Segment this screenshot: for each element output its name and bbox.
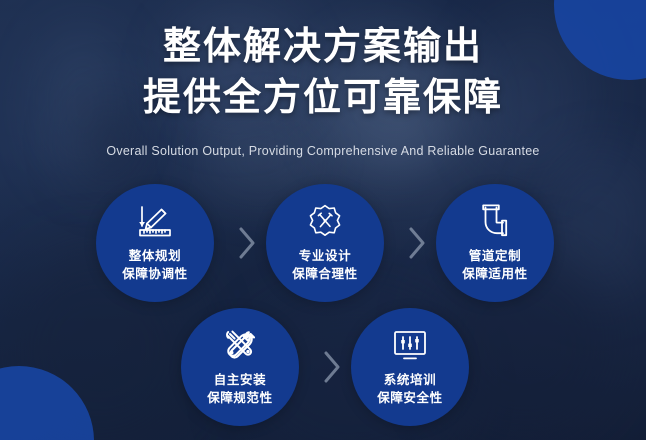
step-label-line-1: 专业设计 [292,248,358,266]
chevron-right-icon [319,347,345,387]
drafting-pencil-ruler-icon [135,203,175,241]
step-label-line-1: 管道定制 [462,248,528,266]
step-label-line-2: 保障合理性 [292,266,358,284]
step-label-line-2: 保障适用性 [462,266,528,284]
page-subtitle: Overall Solution Output, Providing Compr… [0,144,646,158]
step-card-overall-planning[interactable]: 整体规划 保障协调性 [96,184,214,302]
step-card-caption: 专业设计 保障合理性 [292,248,358,284]
step-label-line-1: 自主安装 [207,372,273,390]
chevron-right-icon [404,223,430,263]
banner-heading-group: 整体解决方案输出 提供全方位可靠保障 Overall Solution Outp… [0,22,646,158]
step-card-caption: 自主安装 保障规范性 [207,372,273,408]
step-card-system-training[interactable]: 系统培训 保障安全性 [351,308,469,426]
step-card-professional-design[interactable]: 专业设计 保障合理性 [266,184,384,302]
step-label-line-2: 保障规范性 [207,390,273,408]
wrench-screwdriver-icon [220,327,260,365]
design-badge-tools-icon [305,203,345,241]
elbow-pipe-icon [475,203,515,241]
step-card-caption: 整体规划 保障协调性 [122,248,188,284]
page-title-line-2: 提供全方位可靠保障 [0,73,646,124]
step-label-line-1: 整体规划 [122,248,188,266]
step-label-line-2: 保障协调性 [122,266,188,284]
chevron-right-icon [234,223,260,263]
step-card-caption: 管道定制 保障适用性 [462,248,528,284]
step-label-line-1: 系统培训 [377,372,443,390]
page-title-line-1: 整体解决方案输出 [0,22,646,73]
step-card-self-installation[interactable]: 自主安装 保障规范性 [181,308,299,426]
step-card-pipe-customization[interactable]: 管道定制 保障适用性 [436,184,554,302]
solution-banner: 整体解决方案输出 提供全方位可靠保障 Overall Solution Outp… [0,0,646,440]
step-card-caption: 系统培训 保障安全性 [377,372,443,408]
monitor-sliders-icon [390,327,430,365]
step-label-line-2: 保障安全性 [377,390,443,408]
